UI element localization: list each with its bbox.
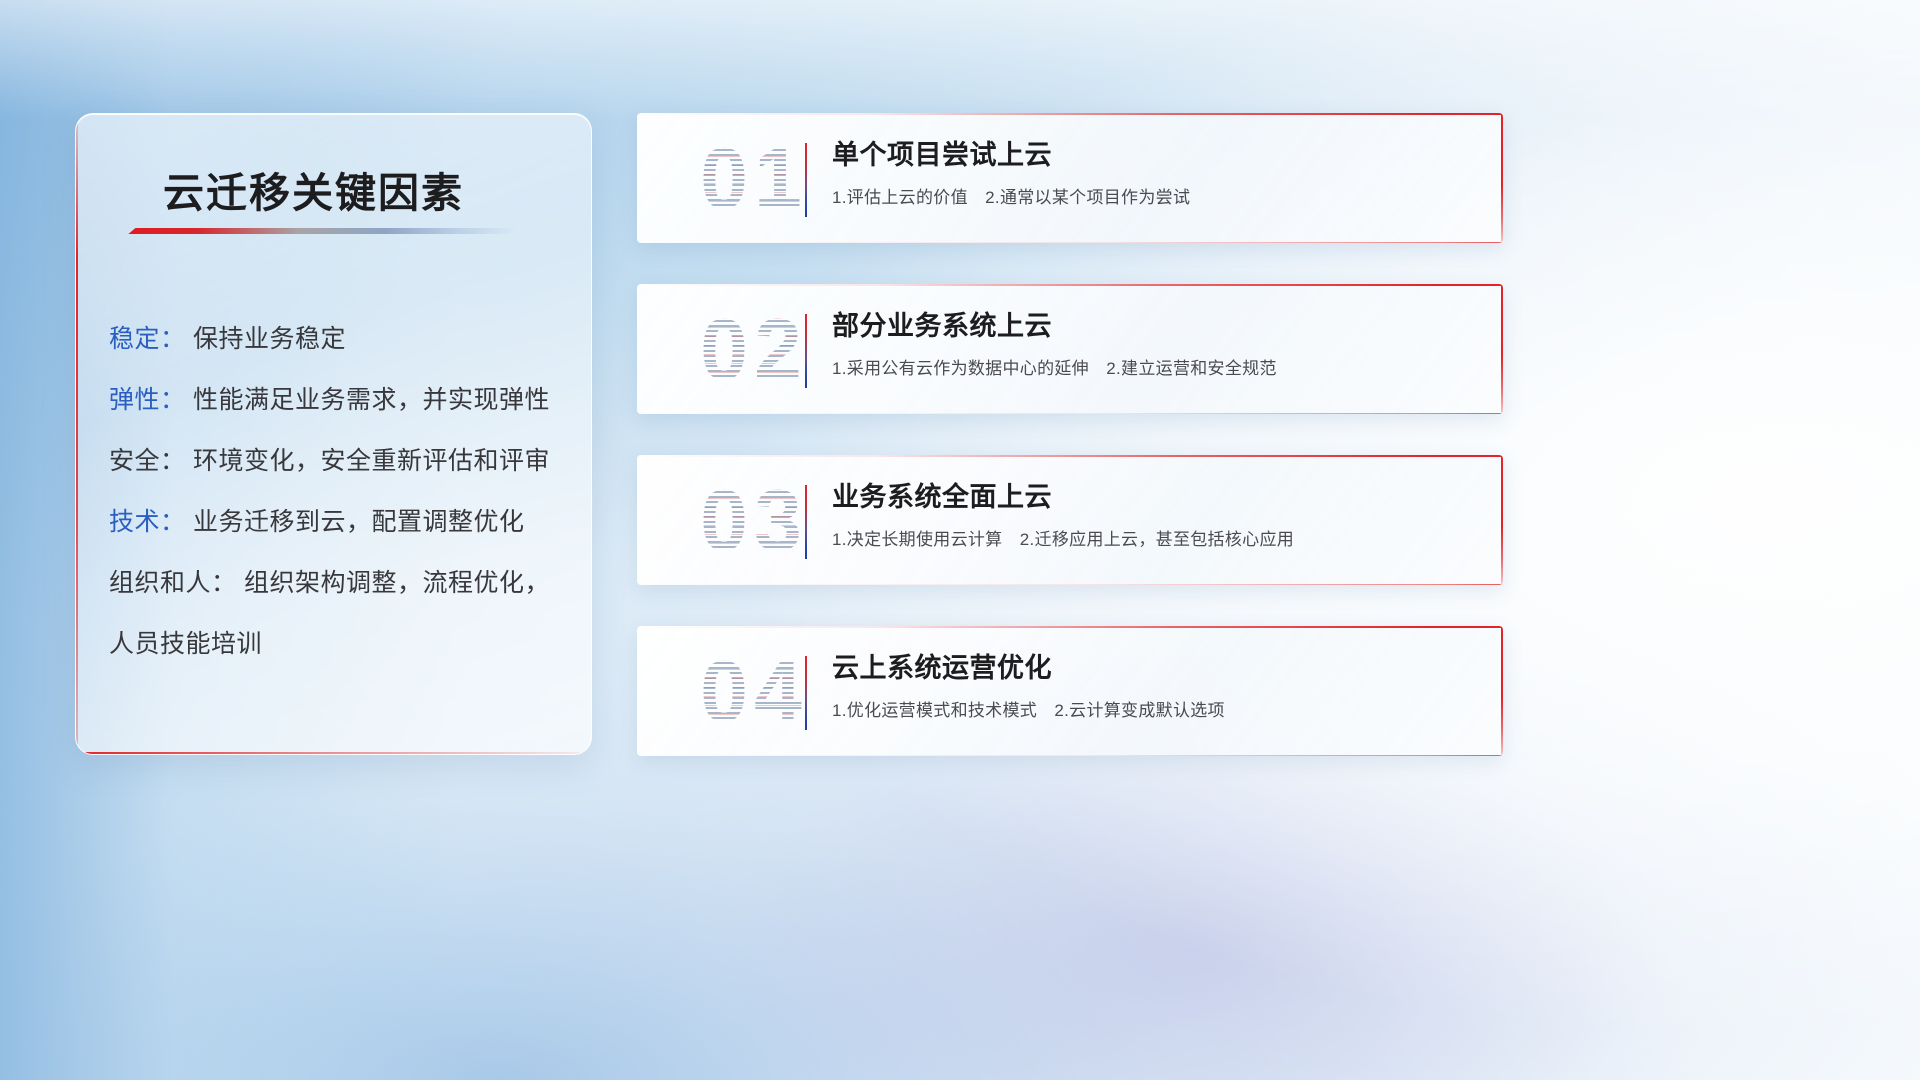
stage-card[interactable]: 01 01 单个项目尝试上云 1.评估上云的价值 2.通常以某个项目作为尝试: [637, 113, 1503, 243]
factor-list: 稳定： 保持业务稳定 弹性： 性能满足业务需求，并实现弹性 安全： 环境变化，安…: [109, 309, 569, 675]
stage-number-tint: 04: [659, 642, 849, 742]
panel-accent-bottom-bar: [76, 752, 591, 754]
card-accent-top: [637, 284, 1503, 286]
stage-title: 业务系统全面上云: [832, 479, 1479, 515]
factor-row: 技术： 业务迁移到云，配置调整优化: [109, 492, 569, 553]
panel-accent-left-bar: [76, 114, 78, 754]
slide-canvas: 云迁移关键因素 稳定： 保持业务稳定 弹性： 性能满足业务需求，并实现弹性 安全…: [0, 0, 1920, 1080]
stage-description: 1.决定长期使用云计算 2.迁移应用上云，甚至包括核心应用: [832, 528, 1479, 552]
factor-key: 安全：: [109, 447, 186, 475]
card-accent-bottom: [637, 413, 1503, 414]
card-accent-top: [637, 455, 1503, 457]
stage-description: 1.评估上云的价值 2.通常以某个项目作为尝试: [832, 186, 1479, 210]
stage-body: 部分业务系统上云 1.采用公有云作为数据中心的延伸 2.建立运营和安全规范: [832, 308, 1479, 381]
stage-card[interactable]: 04 04 云上系统运营优化 1.优化运营模式和技术模式 2.云计算变成默认选项: [637, 626, 1503, 756]
factor-value: 性能满足业务需求，并实现弹性: [193, 386, 550, 414]
stage-number-tint: 01: [659, 129, 849, 229]
card-accent-right: [1501, 284, 1503, 414]
stage-description: 1.优化运营模式和技术模式 2.云计算变成默认选项: [832, 699, 1479, 723]
migration-stages-list: 01 01 单个项目尝试上云 1.评估上云的价值 2.通常以某个项目作为尝试 0…: [637, 113, 1503, 797]
stage-divider-bar: [805, 314, 807, 388]
card-accent-bottom: [637, 242, 1503, 243]
background-edge-top: [0, 0, 1920, 120]
factor-key: 弹性：: [109, 386, 186, 414]
stage-body: 业务系统全面上云 1.决定长期使用云计算 2.迁移应用上云，甚至包括核心应用: [832, 479, 1479, 552]
stage-divider-bar: [805, 485, 807, 559]
card-accent-top: [637, 626, 1503, 628]
stage-title: 部分业务系统上云: [832, 308, 1479, 344]
card-accent-right: [1501, 455, 1503, 585]
factor-row: 稳定： 保持业务稳定: [109, 309, 569, 370]
panel-title: 云迁移关键因素: [163, 159, 464, 219]
stage-title: 单个项目尝试上云: [832, 137, 1479, 173]
stage-body: 单个项目尝试上云 1.评估上云的价值 2.通常以某个项目作为尝试: [832, 137, 1479, 210]
factor-value: 保持业务稳定: [193, 325, 346, 353]
panel-title-underline: [126, 228, 518, 234]
key-factors-panel: 云迁移关键因素 稳定： 保持业务稳定 弹性： 性能满足业务需求，并实现弹性 安全…: [75, 113, 592, 755]
factor-value-continued: 人员技能培训: [109, 614, 569, 675]
stage-card[interactable]: 02 02 部分业务系统上云 1.采用公有云作为数据中心的延伸 2.建立运营和安…: [637, 284, 1503, 414]
stage-divider-bar: [805, 143, 807, 217]
factor-value: 组织架构调整，流程优化，: [244, 569, 550, 597]
stage-title: 云上系统运营优化: [832, 650, 1479, 686]
factor-row: 组织和人： 组织架构调整，流程优化，: [109, 553, 569, 614]
factor-row: 弹性： 性能满足业务需求，并实现弹性: [109, 370, 569, 431]
factor-row: 安全： 环境变化，安全重新评估和评审: [109, 431, 569, 492]
card-accent-right: [1501, 113, 1503, 243]
factor-key: 技术：: [109, 508, 186, 536]
stage-description: 1.采用公有云作为数据中心的延伸 2.建立运营和安全规范: [832, 357, 1479, 381]
stage-divider-bar: [805, 656, 807, 730]
card-accent-bottom: [637, 584, 1503, 585]
card-accent-bottom: [637, 755, 1503, 756]
card-accent-right: [1501, 626, 1503, 756]
stage-number-tint: 03: [659, 471, 849, 571]
factor-value: 环境变化，安全重新评估和评审: [193, 447, 550, 475]
factor-key: 组织和人：: [109, 569, 237, 597]
stage-body: 云上系统运营优化 1.优化运营模式和技术模式 2.云计算变成默认选项: [832, 650, 1479, 723]
factor-key: 稳定：: [109, 325, 186, 353]
stage-card[interactable]: 03 03 业务系统全面上云 1.决定长期使用云计算 2.迁移应用上云，甚至包括…: [637, 455, 1503, 585]
stage-number-tint: 02: [659, 300, 849, 400]
factor-value: 业务迁移到云，配置调整优化: [193, 508, 525, 536]
card-accent-top: [637, 113, 1503, 115]
